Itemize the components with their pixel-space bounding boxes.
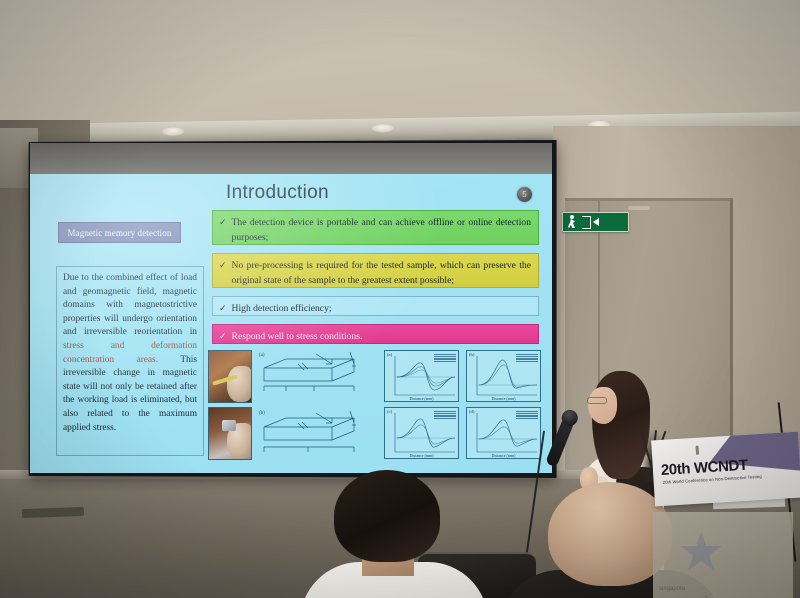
bullet-text: Respond well to stress conditions.: [232, 329, 363, 344]
bullet-item-3: ✓ High detection efficiency;: [212, 296, 539, 316]
plot-xlabel: Distance (mm): [385, 453, 458, 458]
figure-strip: (a) (b) (a): [208, 350, 544, 462]
svg-text:(a): (a): [259, 353, 265, 358]
plot-xlabel: Distance (mm): [467, 396, 540, 401]
projected-slide: Introduction 5 Magnetic memory detection…: [30, 174, 552, 473]
plot-xlabel: Distance (mm): [385, 396, 458, 401]
ceiling-light: [162, 127, 184, 135]
bullet-item-1: ✓ The detection device is portable and c…: [212, 210, 539, 245]
checkmark-icon: ✓: [219, 301, 227, 316]
specimen-schematic-1: (a): [258, 350, 376, 403]
audience-member-1: [300, 470, 488, 598]
eyeglasses: [587, 397, 607, 404]
photo-thumbnail-1: [208, 350, 252, 403]
paragraph-part2: This irreversible change in magnetic sta…: [63, 355, 197, 433]
page-title: Introduction: [226, 182, 329, 204]
banner-secondary-line1: singapore: [659, 586, 685, 592]
bullet-text: No pre-processing is required for the te…: [232, 258, 531, 288]
checkmark-icon: ✓: [219, 215, 227, 230]
ceiling: [0, 0, 800, 132]
result-plot-4: (d) Distance (mm): [466, 407, 541, 459]
speaker-face: [588, 387, 617, 424]
plot-legend: [516, 354, 538, 362]
svg-text:(b): (b): [259, 411, 265, 416]
plot-legend: [434, 354, 456, 362]
plot-tag: (b): [469, 352, 474, 357]
star-icon: ★: [677, 528, 733, 582]
plot-tag: (d): [469, 409, 474, 414]
banner-lower-panel: ★ singapore conversis: [653, 512, 793, 598]
exit-door-icon: [582, 216, 591, 229]
banner-mark: [696, 446, 700, 455]
description-paragraph-box: Due to the combined effect of load and g…: [56, 266, 204, 456]
banner-secondary-line2: conversis: [659, 594, 715, 598]
result-plot-3: (c) Distance (mm): [384, 407, 459, 459]
photo-thumbnail-2: [208, 407, 252, 460]
conference-banner: ★ singapore conversis 20th WCNDT 20th Wo…: [653, 436, 800, 598]
bullet-item-2: ✓ No pre-processing is required for the …: [212, 253, 539, 288]
hand: [227, 366, 252, 402]
exit-arrow-icon: [593, 218, 599, 226]
description-paragraph: Due to the combined effect of load and g…: [63, 272, 197, 435]
bullet-text: High detection efficiency;: [232, 301, 332, 316]
ceiling-light: [372, 124, 394, 132]
result-plot-1: (a) Distance (mm): [384, 350, 459, 402]
screen-top-band: [30, 143, 552, 175]
checkmark-icon: ✓: [219, 258, 227, 273]
page-number-badge: 5: [517, 187, 532, 202]
plot-tag: (a): [387, 352, 392, 357]
plot-xlabel: Distance (mm): [467, 453, 540, 458]
door-handle: [628, 206, 650, 210]
magnetic-memory-detection-label: Magnetic memory detection: [58, 222, 181, 243]
running-person-icon: [566, 215, 579, 229]
plot-legend: [516, 411, 538, 419]
banner-upper-panel: 20th WCNDT 20th World Conference on Non-…: [651, 432, 800, 507]
specimen-schematic-2: (b): [258, 407, 376, 460]
bullet-text: The detection device is portable and can…: [232, 215, 531, 245]
paragraph-part1: Due to the combined effect of load and g…: [63, 273, 197, 337]
plot-legend: [434, 411, 456, 419]
checkmark-icon: ✓: [219, 329, 227, 344]
emergency-exit-sign: [562, 212, 629, 232]
presentation-photo-scene: Introduction 5 Magnetic memory detection…: [0, 0, 800, 598]
bullet-item-4: ✓ Respond well to stress conditions.: [212, 324, 539, 344]
audience-head: [334, 470, 440, 562]
result-plot-2: (b) Distance (mm): [466, 350, 541, 402]
plot-tag: (c): [387, 409, 392, 414]
probe-device: [222, 420, 236, 431]
